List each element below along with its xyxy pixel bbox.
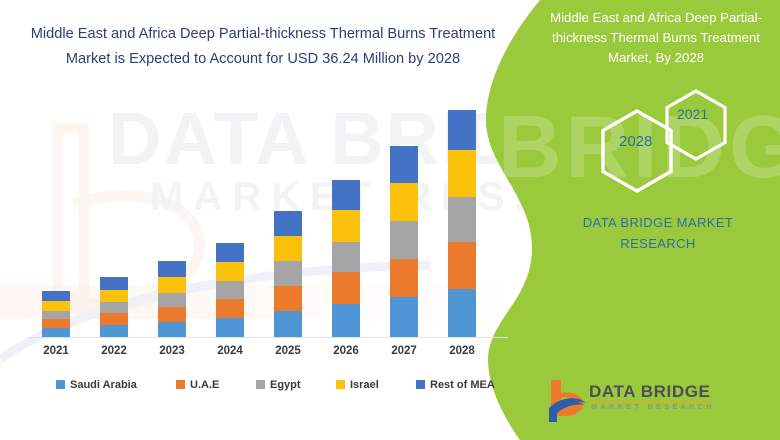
- segment-uae-2024: [216, 299, 244, 318]
- hexagon-2021-label: 2021: [677, 106, 708, 122]
- segment-uae-2023: [158, 307, 186, 322]
- segment-israel-2024: [216, 262, 244, 281]
- data-bridge-b-mark-icon: [545, 378, 587, 424]
- legend-swatch-icon: [56, 380, 65, 389]
- segment-egypt-2022: [100, 302, 128, 313]
- segment-israel-2025: [274, 236, 302, 261]
- infographic-canvas: DATA BRIDGE MARKET RESEARCH BRIDGE Middl…: [0, 0, 780, 440]
- legend-item-restofmea[interactable]: Rest of MEA: [416, 376, 495, 392]
- bar-2026: [332, 180, 360, 337]
- segment-saudiarabia-2025: [274, 311, 302, 337]
- legend-swatch-icon: [416, 380, 425, 389]
- segment-egypt-2023: [158, 293, 186, 307]
- legend-label: Saudi Arabia: [70, 379, 137, 391]
- segment-egypt-2024: [216, 281, 244, 299]
- legend-label: U.A.E: [190, 379, 219, 391]
- segment-uae-2026: [332, 272, 360, 303]
- x-tick-2028: 2028: [434, 345, 490, 357]
- segment-saudiarabia-2028: [448, 289, 476, 337]
- bar-2022: [100, 277, 128, 337]
- data-bridge-logo: DATA BRIDGE MARKET RESEARCH: [545, 378, 715, 426]
- segment-saudiarabia-2026: [332, 304, 360, 337]
- legend-label: Rest of MEA: [430, 379, 495, 391]
- legend-item-saudiarabia[interactable]: Saudi Arabia: [56, 376, 137, 392]
- segment-uae-2028: [448, 242, 476, 288]
- segment-egypt-2025: [274, 261, 302, 285]
- segment-restofmea-2022: [100, 277, 128, 290]
- hexagon-2028-label: 2028: [619, 133, 652, 150]
- x-tick-2022: 2022: [86, 345, 142, 357]
- hexagon-2021: [662, 88, 730, 167]
- segment-egypt-2021: [42, 311, 70, 320]
- segment-uae-2021: [42, 319, 70, 328]
- bar-2024: [216, 243, 244, 337]
- x-tick-2021: 2021: [28, 345, 84, 357]
- legend-swatch-icon: [176, 380, 185, 389]
- segment-uae-2027: [390, 259, 418, 297]
- segment-saudiarabia-2024: [216, 318, 244, 337]
- logo-tagline: MARKET RESEARCH: [591, 402, 715, 411]
- chart-legend: Saudi ArabiaU.A.EEgyptIsraelRest of MEA: [28, 376, 508, 394]
- panel-brand-text: DATA BRIDGE MARKET RESEARCH: [545, 212, 771, 254]
- logo-divider: [590, 400, 708, 401]
- x-axis-line: [28, 337, 508, 338]
- bar-2028: [448, 110, 476, 337]
- legend-item-uae[interactable]: U.A.E: [176, 376, 219, 392]
- segment-egypt-2026: [332, 242, 360, 273]
- chart-plot-area: 20212022202320242025202620272028: [0, 0, 520, 440]
- x-tick-2023: 2023: [144, 345, 200, 357]
- x-tick-2027: 2027: [376, 345, 432, 357]
- segment-israel-2021: [42, 301, 70, 310]
- segment-saudiarabia-2027: [390, 297, 418, 337]
- bar-2027: [390, 146, 418, 337]
- legend-swatch-icon: [256, 380, 265, 389]
- segment-egypt-2028: [448, 197, 476, 243]
- segment-restofmea-2023: [158, 261, 186, 277]
- panel-title: Middle East and Africa Deep Partial-thic…: [540, 8, 772, 68]
- logo-name: DATA BRIDGE: [589, 382, 711, 402]
- bar-2023: [158, 261, 186, 337]
- legend-item-israel[interactable]: Israel: [336, 376, 379, 392]
- segment-uae-2022: [100, 313, 128, 325]
- bar-2021: [42, 291, 70, 337]
- segment-israel-2027: [390, 183, 418, 221]
- bar-2025: [274, 211, 302, 337]
- segment-saudiarabia-2022: [100, 325, 128, 337]
- segment-restofmea-2027: [390, 146, 418, 183]
- segment-israel-2023: [158, 277, 186, 292]
- legend-swatch-icon: [336, 380, 345, 389]
- segment-saudiarabia-2023: [158, 322, 186, 337]
- segment-israel-2028: [448, 150, 476, 196]
- segment-uae-2025: [274, 286, 302, 311]
- segment-israel-2026: [332, 210, 360, 241]
- segment-restofmea-2025: [274, 211, 302, 236]
- segment-egypt-2027: [390, 221, 418, 259]
- legend-label: Egypt: [270, 379, 301, 391]
- segment-saudiarabia-2021: [42, 328, 70, 337]
- segment-israel-2022: [100, 290, 128, 302]
- x-tick-2026: 2026: [318, 345, 374, 357]
- legend-label: Israel: [350, 379, 379, 391]
- segment-restofmea-2026: [332, 180, 360, 211]
- segment-restofmea-2028: [448, 110, 476, 150]
- x-tick-2025: 2025: [260, 345, 316, 357]
- legend-item-egypt[interactable]: Egypt: [256, 376, 301, 392]
- x-tick-2024: 2024: [202, 345, 258, 357]
- segment-restofmea-2024: [216, 243, 244, 262]
- segment-restofmea-2021: [42, 291, 70, 301]
